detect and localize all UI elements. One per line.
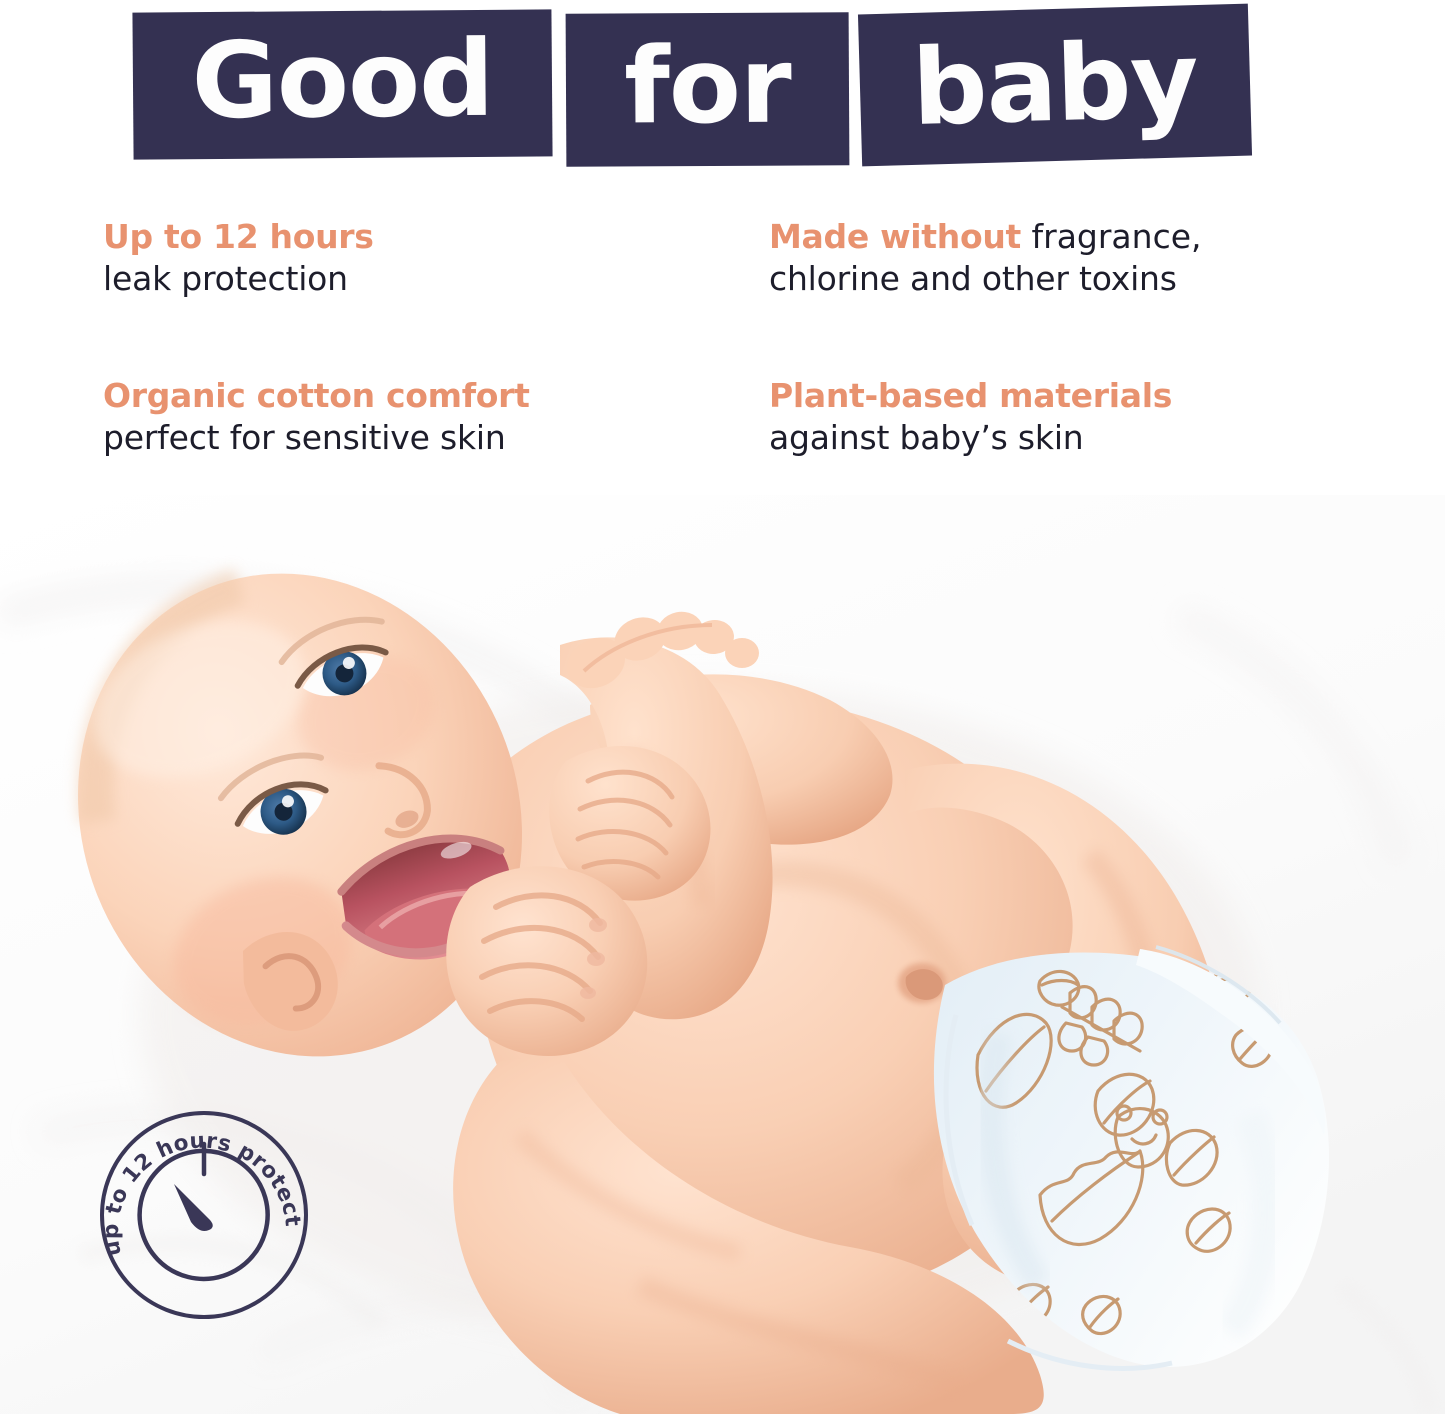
title-word-for: for: [624, 34, 791, 146]
badge-curved-text: up to 12 hours protection: [96, 1108, 305, 1258]
feature-subline: perfect for sensitive skin: [103, 419, 663, 458]
title-block-good: Good: [132, 9, 552, 159]
title-block-baby: baby: [858, 4, 1252, 167]
feature-headline-accent: Made without: [769, 217, 1021, 256]
title-word-good: Good: [191, 27, 494, 142]
feature-headline: Made without fragrance,: [769, 218, 1389, 257]
features-grid: Up to 12 hours leak protection Made with…: [0, 205, 1445, 495]
baby-hand-lower: [446, 866, 647, 1056]
feature-item-made-without: Made without fragrance, chlorine and oth…: [769, 218, 1389, 299]
feature-subline: chlorine and other toxins: [769, 260, 1389, 299]
feature-headline: Up to 12 hours: [103, 218, 663, 257]
feature-headline: Plant-based materials: [769, 377, 1389, 416]
feature-subline: against baby’s skin: [769, 419, 1389, 458]
navel: [898, 963, 946, 1003]
feature-subline: leak protection: [103, 260, 663, 299]
feature-headline-accent: Organic cotton comfort: [103, 376, 530, 415]
up-to-12-hours-protection-badge: up to 12 hours protection: [96, 1108, 312, 1322]
title-block-for: for: [566, 12, 850, 166]
feature-headline-accent: Plant-based materials: [769, 376, 1172, 415]
protection-badge: up to 12 hours protection: [96, 1108, 312, 1322]
title-word-baby: baby: [911, 28, 1200, 143]
feature-headline-rest: fragrance,: [1021, 217, 1202, 256]
feature-item-leak-protection: Up to 12 hours leak protection: [103, 218, 663, 299]
feature-headline: Organic cotton comfort: [103, 377, 663, 416]
feature-item-organic-cotton: Organic cotton comfort perfect for sensi…: [103, 377, 663, 458]
timer-needle: [174, 1184, 213, 1231]
feature-headline-accent: Up to 12 hours: [103, 217, 374, 256]
feature-item-plant-based: Plant-based materials against baby’s ski…: [769, 377, 1389, 458]
header-banner: Good for baby: [0, 0, 1445, 190]
